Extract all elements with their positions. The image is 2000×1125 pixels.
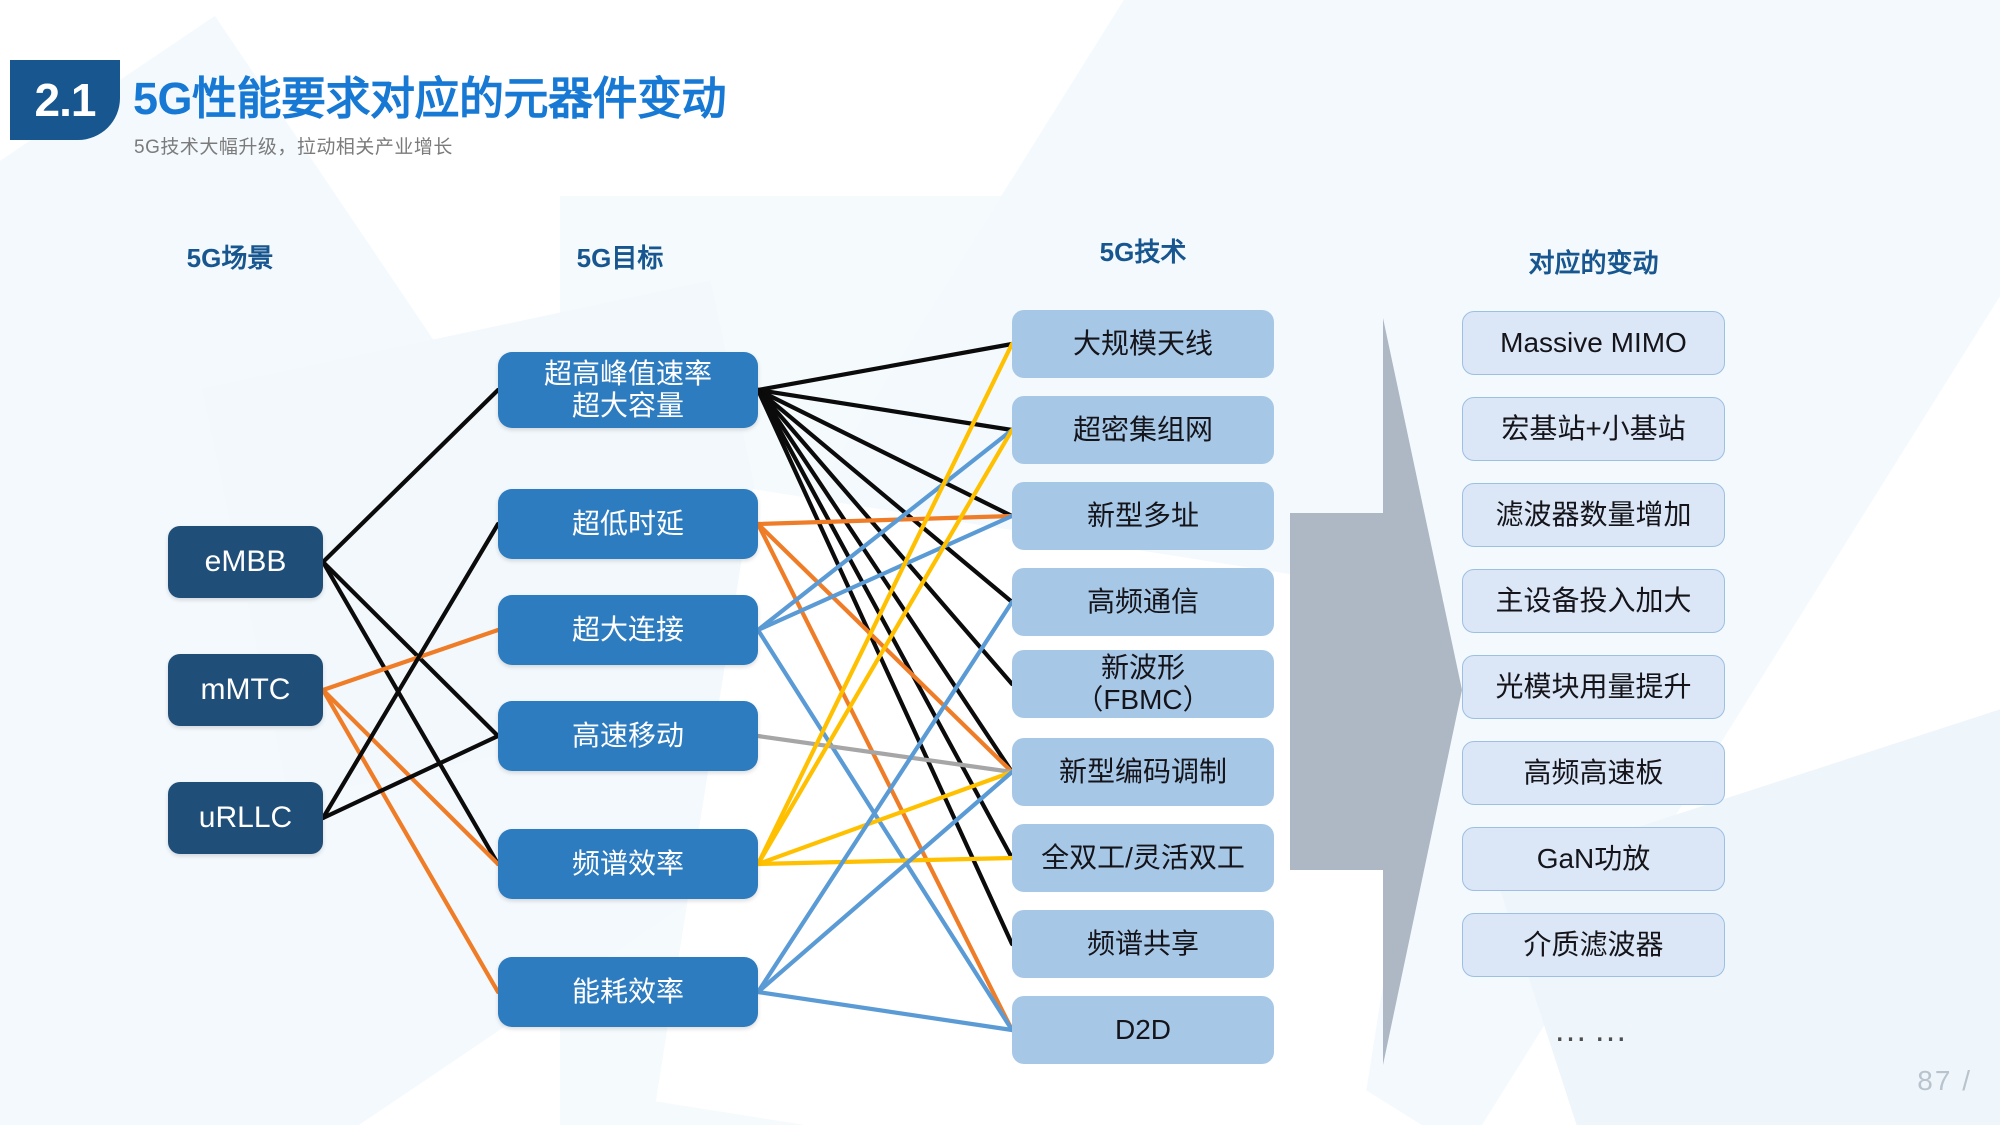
change-node-1[interactable]: Massive MIMO (1462, 311, 1725, 375)
goal-node-4[interactable]: 高速移动 (498, 701, 758, 771)
change-node-5[interactable]: 光模块用量提升 (1462, 655, 1725, 719)
change-node-2[interactable]: 宏基站+小基站 (1462, 397, 1725, 461)
scenario-node-urllc[interactable]: uRLLC (168, 782, 323, 854)
page-subtitle: 5G技术大幅升级，拉动相关产业增长 (134, 132, 453, 159)
connector-line (758, 390, 1012, 684)
connector-line (758, 772, 1012, 992)
tech-node-label-line2: （FBMC） (1075, 684, 1210, 716)
goal-node-1[interactable]: 超高峰值速率超大容量 (498, 352, 758, 428)
tech-node-8[interactable]: 频谱共享 (1012, 910, 1274, 978)
tech-node-label: 新波形 (1101, 652, 1185, 683)
page-title: 5G性能要求对应的元器件变动 (133, 62, 726, 127)
connector-line (758, 516, 1012, 630)
scenario-node-embb[interactable]: eMBB (168, 526, 323, 598)
goal-node-6[interactable]: 能耗效率 (498, 957, 758, 1027)
goal-node-label: 能耗效率 (572, 976, 684, 1007)
goal-node-label: 频谱效率 (572, 848, 684, 879)
change-node-ellipsis: …… (1462, 999, 1725, 1063)
connector-line (758, 630, 1012, 1030)
tech-node-label: 频谱共享 (1087, 928, 1199, 959)
tech-node-label: 新型编码调制 (1059, 756, 1227, 787)
page-number: 87 / (1917, 1065, 1972, 1097)
tech-node-2[interactable]: 超密集组网 (1012, 396, 1274, 464)
column-heading-scenario: 5G场景 (140, 238, 320, 275)
goal-node-label: 超低时延 (572, 508, 684, 539)
column-heading-tech: 5G技术 (1012, 232, 1274, 269)
slide-header: 2.1 5G性能要求对应的元器件变动 5G技术大幅升级，拉动相关产业增长 (0, 0, 2000, 190)
connector-line (323, 390, 498, 562)
tech-node-9[interactable]: D2D (1012, 996, 1274, 1064)
connector-line (758, 736, 1012, 772)
connector-line (758, 992, 1012, 1030)
flow-arrow (1290, 318, 1462, 1065)
tech-node-label: 新型多址 (1087, 500, 1199, 531)
tech-node-1[interactable]: 大规模天线 (1012, 310, 1274, 378)
connector-line (323, 524, 498, 818)
connector-line (323, 690, 498, 992)
goal-node-3[interactable]: 超大连接 (498, 595, 758, 665)
goal-node-2[interactable]: 超低时延 (498, 489, 758, 559)
change-node-6[interactable]: 高频高速板 (1462, 741, 1725, 805)
scenario-node-mmtc[interactable]: mMTC (168, 654, 323, 726)
tech-node-label: 超密集组网 (1073, 414, 1213, 445)
tech-node-6[interactable]: 新型编码调制 (1012, 738, 1274, 806)
goal-tech-links (758, 344, 1012, 1030)
change-node-7[interactable]: GaN功放 (1462, 827, 1725, 891)
column-heading-goal: 5G目标 (490, 238, 750, 275)
connector-line (758, 344, 1012, 390)
connector-line (323, 630, 498, 690)
goal-node-5[interactable]: 频谱效率 (498, 829, 758, 899)
column-heading-change: 对应的变动 (1462, 243, 1725, 280)
scenario-goal-links (323, 390, 498, 992)
goal-node-label: 超高峰值速率 (544, 358, 712, 389)
goal-node-label: 高速移动 (572, 720, 684, 751)
change-node-3[interactable]: 滤波器数量增加 (1462, 483, 1725, 547)
tech-node-5[interactable]: 新波形（FBMC） (1012, 650, 1274, 718)
goal-node-label: 超大连接 (572, 614, 684, 645)
tech-node-label: 全双工/灵活双工 (1041, 842, 1245, 873)
tech-node-label: D2D (1115, 1014, 1171, 1045)
tech-node-label: 大规模天线 (1073, 328, 1213, 359)
change-node-8[interactable]: 介质滤波器 (1462, 913, 1725, 977)
connector-line (758, 516, 1012, 524)
goal-node-label-line2: 超大容量 (544, 390, 712, 422)
connector-line (758, 390, 1012, 772)
tech-node-3[interactable]: 新型多址 (1012, 482, 1274, 550)
tech-node-4[interactable]: 高频通信 (1012, 568, 1274, 636)
connector-line (323, 562, 498, 864)
tech-node-7[interactable]: 全双工/灵活双工 (1012, 824, 1274, 892)
change-node-4[interactable]: 主设备投入加大 (1462, 569, 1725, 633)
tech-node-label: 高频通信 (1087, 586, 1199, 617)
section-number-badge: 2.1 (10, 60, 120, 140)
